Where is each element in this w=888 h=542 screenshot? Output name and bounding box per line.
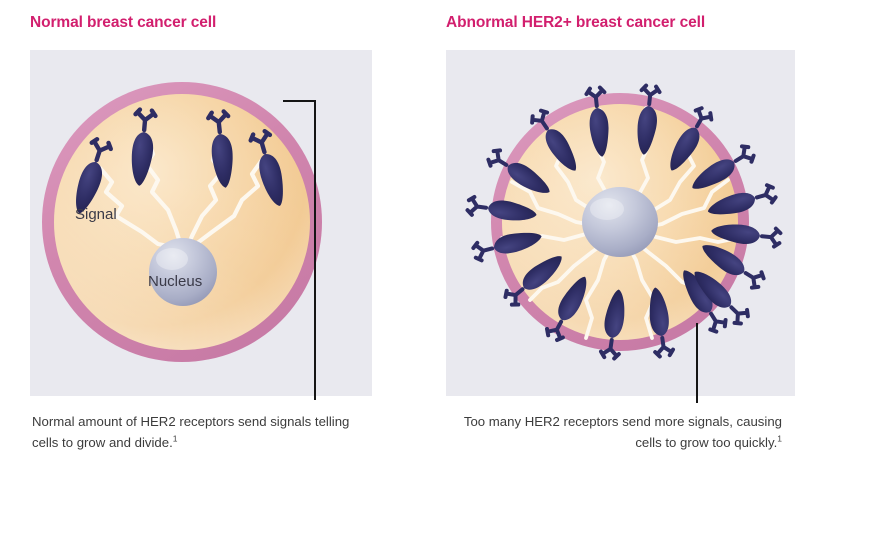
nucleus <box>149 238 217 306</box>
caption-normal-reference: 1 <box>173 433 178 443</box>
her2-comparison-figure: Normal breast cancer cell <box>0 0 888 542</box>
her2-cell-svg <box>446 50 795 396</box>
label-nucleus: Nucleus <box>148 273 202 290</box>
label-signal: Signal <box>75 206 117 223</box>
caption-her2-cell: Too many HER2 receptors send more signal… <box>446 412 782 453</box>
panel-title-normal: Normal breast cancer cell <box>30 14 216 32</box>
panel-title-her2-positive: Abnormal HER2+ breast cancer cell <box>446 14 705 32</box>
caption-her2-text: Too many HER2 receptors send more signal… <box>464 414 782 450</box>
caption-normal-cell: Normal amount of HER2 receptors send sig… <box>32 412 362 453</box>
nucleus-highlight <box>156 248 188 270</box>
illustration-normal-cell: Signal Nucleus <box>30 50 372 396</box>
caption-normal-text: Normal amount of HER2 receptors send sig… <box>32 414 349 450</box>
nucleus-highlight <box>590 198 624 220</box>
caption-her2-reference: 1 <box>777 433 782 443</box>
nucleus <box>582 187 658 257</box>
normal-cell-svg: Signal Nucleus <box>30 50 372 396</box>
illustration-her2-positive-cell <box>446 50 795 396</box>
